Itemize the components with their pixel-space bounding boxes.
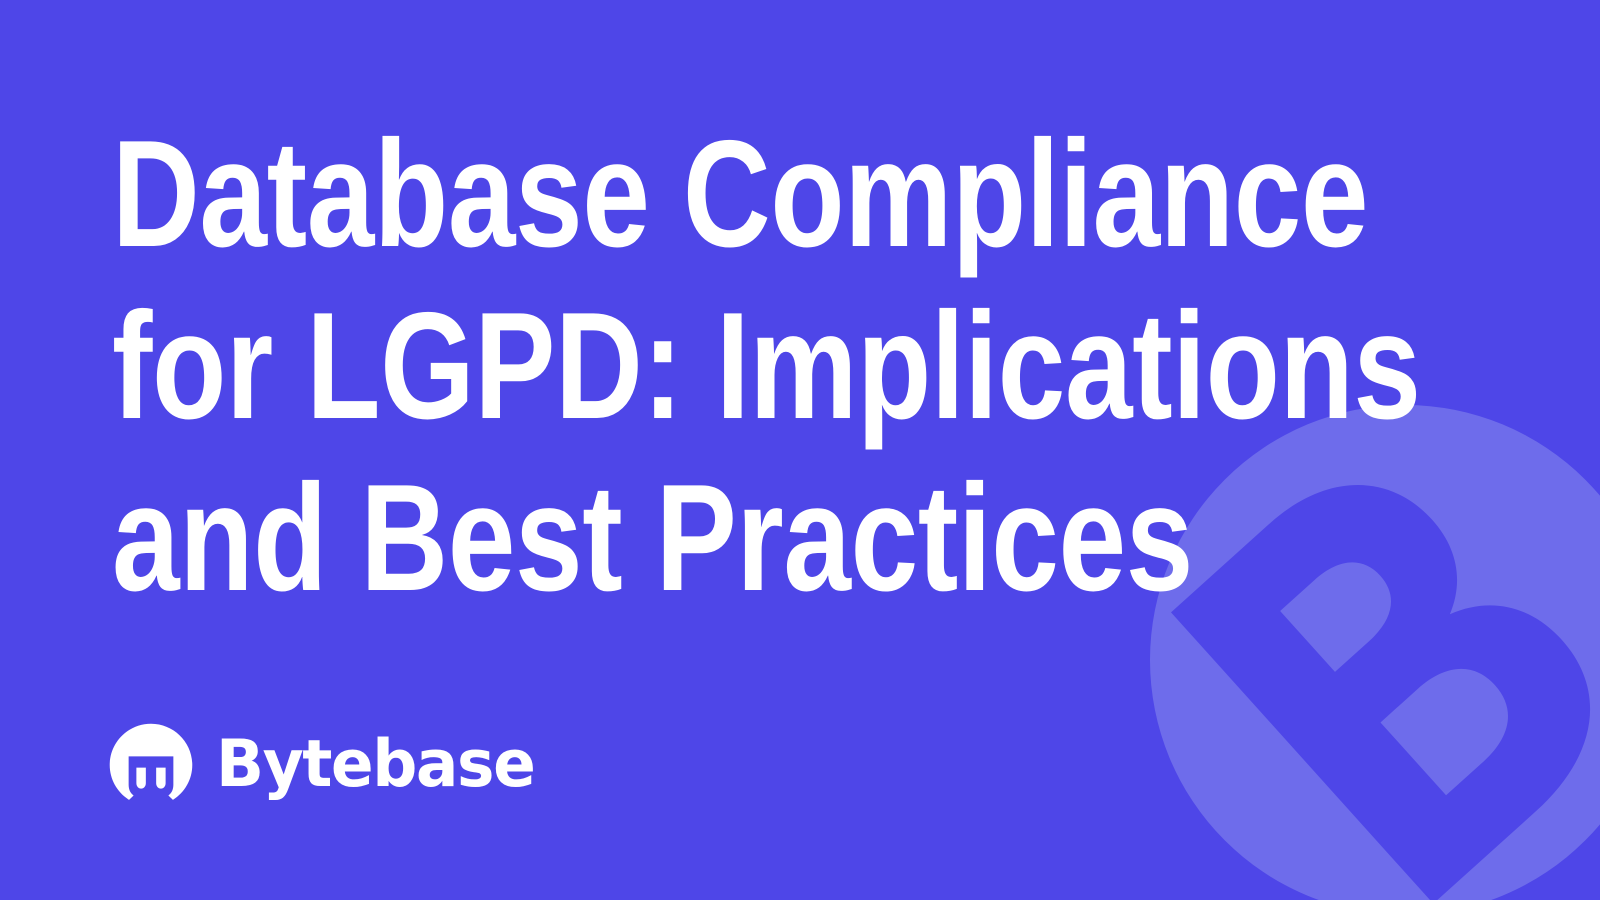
bytebase-logo: Bytebase — [108, 722, 544, 808]
social-share-card: Database Compliance for LGPD: Implicatio… — [0, 0, 1600, 900]
title-line-2: for LGPD: Implications — [112, 280, 1144, 452]
title-line-1: Database Compliance — [112, 108, 1144, 280]
page-title: Database Compliance for LGPD: Implicatio… — [112, 108, 1402, 624]
bytebase-wordmark: Bytebase — [216, 730, 534, 800]
title-line-3: and Best Practices — [112, 452, 1144, 624]
bytebase-logo-mark-icon — [108, 722, 194, 808]
